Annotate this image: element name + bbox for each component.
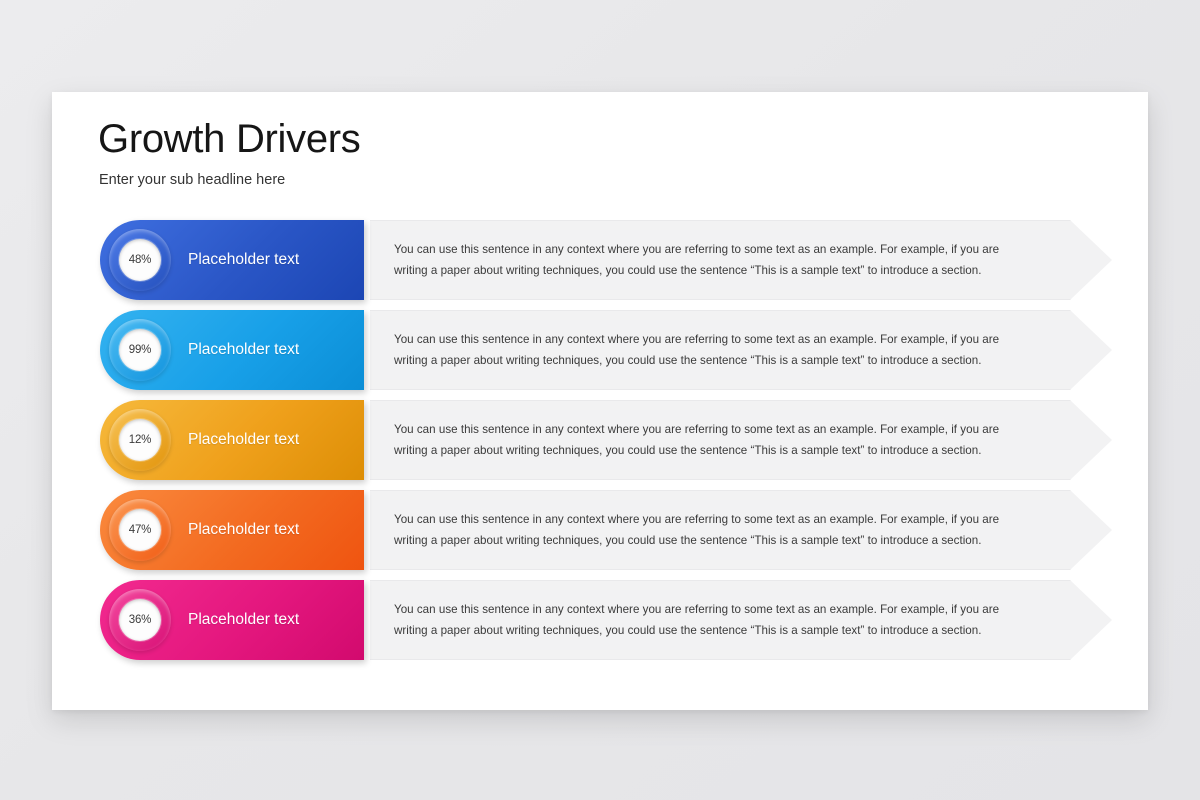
percent-value: 48% (129, 254, 151, 266)
description-text: You can use this sentence in any context… (394, 599, 1034, 641)
percent-value: 47% (129, 524, 151, 536)
description-text: You can use this sentence in any context… (394, 509, 1034, 551)
description-text: You can use this sentence in any context… (394, 329, 1034, 371)
driver-row: You can use this sentence in any context… (52, 220, 1148, 300)
percent-donut: 12% (109, 409, 171, 471)
description-text: You can use this sentence in any context… (394, 239, 1034, 281)
driver-bar[interactable]: 36%Placeholder text (100, 580, 364, 660)
driver-bar[interactable]: 99%Placeholder text (100, 310, 364, 390)
percent-donut-hole: 47% (119, 509, 161, 551)
driver-bar[interactable]: 12%Placeholder text (100, 400, 364, 480)
page-subtitle: Enter your sub headline here (99, 172, 285, 188)
percent-value: 36% (129, 614, 151, 626)
percent-donut: 99% (109, 319, 171, 381)
description-panel: You can use this sentence in any context… (370, 400, 1112, 480)
percent-donut-hole: 36% (119, 599, 161, 641)
driver-row: You can use this sentence in any context… (52, 400, 1148, 480)
driver-row: You can use this sentence in any context… (52, 310, 1148, 390)
page-title: Growth Drivers (98, 117, 361, 162)
description-panel: You can use this sentence in any context… (370, 580, 1112, 660)
growth-drivers-list: You can use this sentence in any context… (52, 220, 1148, 670)
percent-donut-hole: 12% (119, 419, 161, 461)
percent-value: 12% (129, 434, 151, 446)
driver-label: Placeholder text (188, 251, 299, 269)
description-panel: You can use this sentence in any context… (370, 490, 1112, 570)
description-panel: You can use this sentence in any context… (370, 220, 1112, 300)
driver-row: You can use this sentence in any context… (52, 490, 1148, 570)
driver-label: Placeholder text (188, 341, 299, 359)
percent-donut: 48% (109, 229, 171, 291)
percent-donut-hole: 48% (119, 239, 161, 281)
percent-donut: 36% (109, 589, 171, 651)
percent-donut: 47% (109, 499, 171, 561)
driver-label: Placeholder text (188, 611, 299, 629)
description-text: You can use this sentence in any context… (394, 419, 1034, 461)
driver-bar[interactable]: 47%Placeholder text (100, 490, 364, 570)
slide-card: Growth Drivers Enter your sub headline h… (52, 92, 1148, 710)
driver-label: Placeholder text (188, 431, 299, 449)
percent-donut-hole: 99% (119, 329, 161, 371)
driver-label: Placeholder text (188, 521, 299, 539)
driver-row: You can use this sentence in any context… (52, 580, 1148, 660)
description-panel: You can use this sentence in any context… (370, 310, 1112, 390)
driver-bar[interactable]: 48%Placeholder text (100, 220, 364, 300)
percent-value: 99% (129, 344, 151, 356)
